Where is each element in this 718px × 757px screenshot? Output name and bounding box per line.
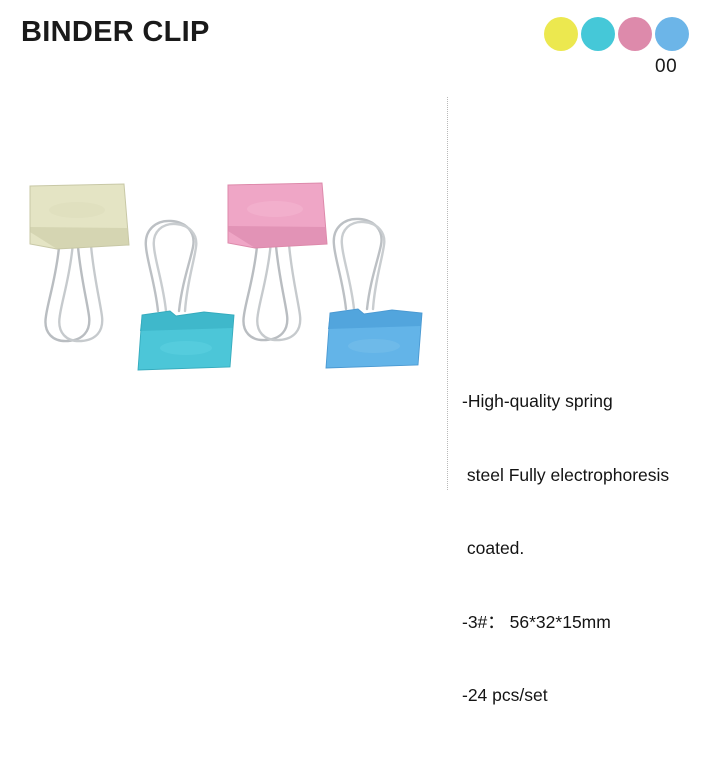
product-spec-sheet: BINDER CLIP 00 xyxy=(0,0,718,512)
page-title: BINDER CLIP xyxy=(21,16,210,49)
swatch-dot-blue[interactable] xyxy=(655,17,689,51)
clip-body xyxy=(326,309,422,368)
spec-line: -24 pcs/set xyxy=(462,683,712,708)
swatch-dot-cyan[interactable] xyxy=(581,17,615,51)
product-image-binder-clips xyxy=(20,175,430,370)
swatch-dot-pink[interactable] xyxy=(618,17,652,51)
spec-line: coated. xyxy=(462,536,712,561)
spec-line: -High-quality spring xyxy=(462,389,712,414)
wire-handle-down xyxy=(243,246,300,340)
swatch-dot-yellow[interactable] xyxy=(544,17,578,51)
spec-line: -3#： 56*32*15mm xyxy=(462,610,712,635)
vertical-dotted-divider xyxy=(447,97,448,490)
clip-body xyxy=(228,183,327,248)
spec-line: steel Fully electrophoresis xyxy=(462,463,712,488)
wire-handle-down xyxy=(45,247,102,341)
color-swatch-row xyxy=(544,17,689,51)
binder-clip-pale-yellow xyxy=(27,183,147,363)
binder-clip-blue xyxy=(318,213,428,373)
color-code-label: 00 xyxy=(655,56,677,78)
binder-clip-cyan xyxy=(130,215,240,375)
wire-handle-up xyxy=(146,221,196,311)
wire-handle-up xyxy=(334,219,384,309)
clip-body xyxy=(138,311,234,370)
clip-body xyxy=(30,184,129,249)
product-spec-text: -High-quality spring steel Fully electro… xyxy=(462,340,712,757)
